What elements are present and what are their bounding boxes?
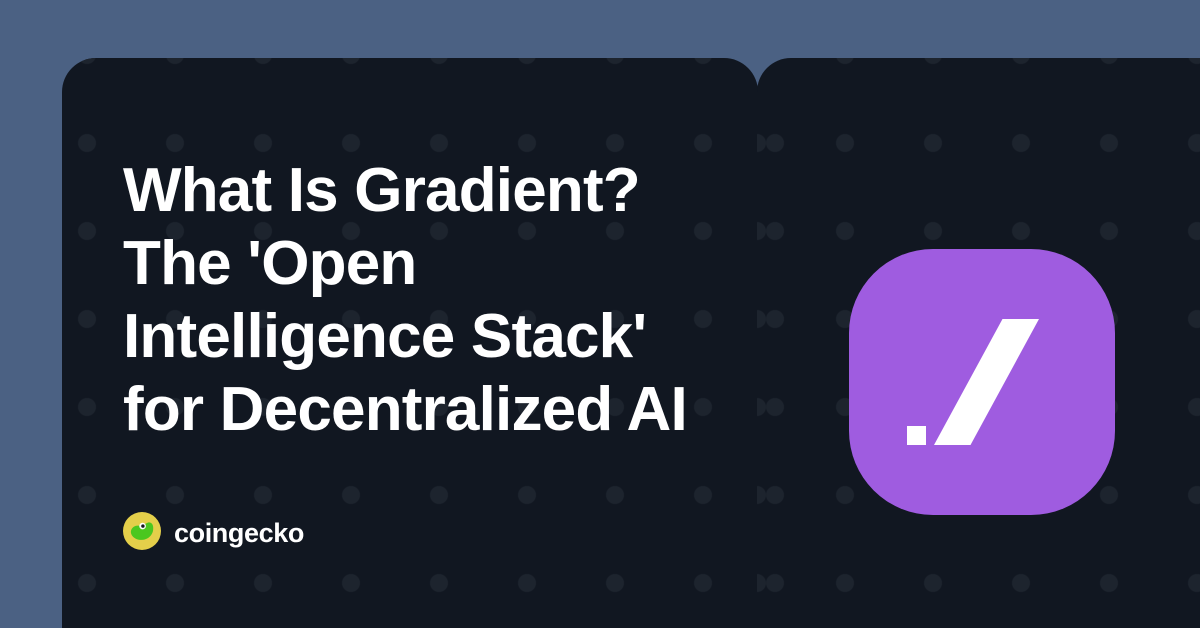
social-share-card: What Is Gradient? The 'Open Intelligence… [0,0,1200,628]
article-headline: What Is Gradient? The 'Open Intelligence… [123,154,843,446]
gradient-logo-icon [849,249,1115,515]
coingecko-gecko-icon [123,512,161,555]
coingecko-brand-lockup: coingecko [123,512,304,555]
coingecko-wordmark: coingecko [174,518,304,549]
